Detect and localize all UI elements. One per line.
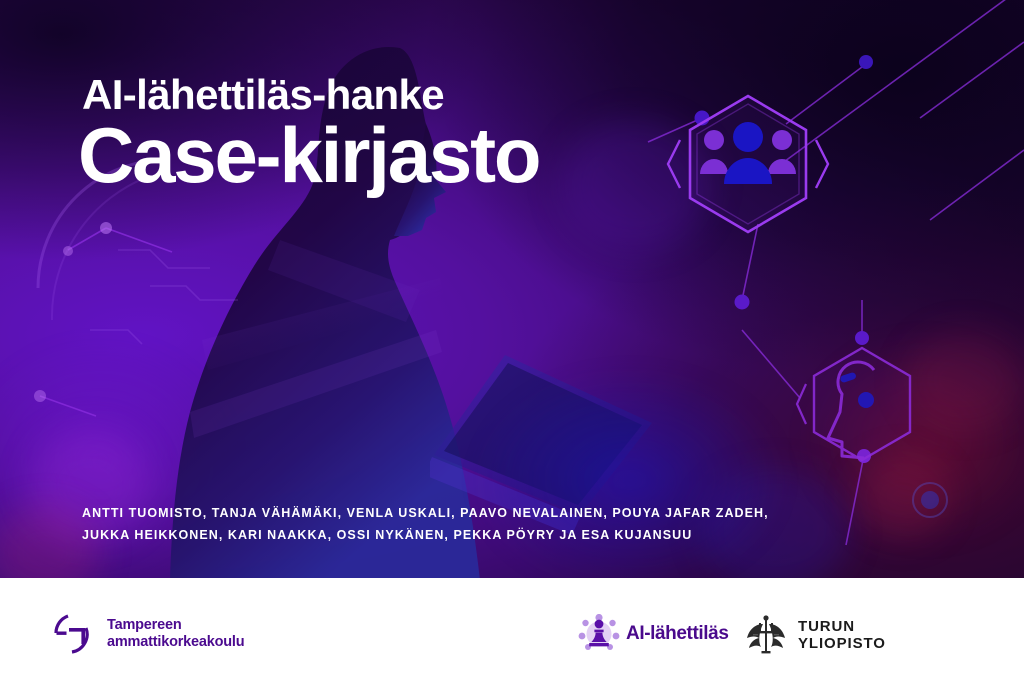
logo-ai-lahettilas: AI-lähettiläs [578, 614, 729, 654]
ai-lahettilas-wordmark: AI-lähettiläs [626, 623, 729, 645]
author-line-2: JUKKA HEIKKONEN, KARI NAAKKA, OSSI NYKÄN… [82, 524, 769, 546]
tamk-line-2: ammattikorkeakoulu [107, 634, 244, 651]
people-group-hexagon-icon [668, 96, 828, 232]
utu-line-2: YLIOPISTO [798, 635, 886, 652]
tamk-circle-mark-icon [48, 612, 94, 656]
author-list: ANTTI TUOMISTO, TANJA VÄHÄMÄKI, VENLA US… [82, 502, 769, 546]
title-block: AI-lähettiläs-hanke Case-kirjasto [82, 72, 539, 196]
page-title: Case-kirjasto [78, 114, 539, 196]
chess-pawn-network-icon [578, 614, 620, 654]
utu-line-1: TURUN [798, 618, 886, 635]
author-line-1: ANTTI TUOMISTO, TANJA VÄHÄMÄKI, VENLA US… [82, 502, 769, 524]
turun-yliopisto-wordmark: TURUN YLIOPISTO [798, 618, 886, 652]
winged-torch-emblem-icon [745, 614, 787, 656]
hero-artwork: AI-lähettiläs-hanke Case-kirjasto ANTTI … [0, 0, 1024, 578]
logo-tamk: Tampereen ammattikorkeakoulu [48, 612, 244, 656]
tamk-line-1: Tampereen [107, 617, 244, 634]
tamk-wordmark: Tampereen ammattikorkeakoulu [107, 617, 244, 651]
logo-turun-yliopisto: TURUN YLIOPISTO [745, 614, 886, 656]
cover-page: AI-lähettiläs-hanke Case-kirjasto ANTTI … [0, 0, 1024, 678]
